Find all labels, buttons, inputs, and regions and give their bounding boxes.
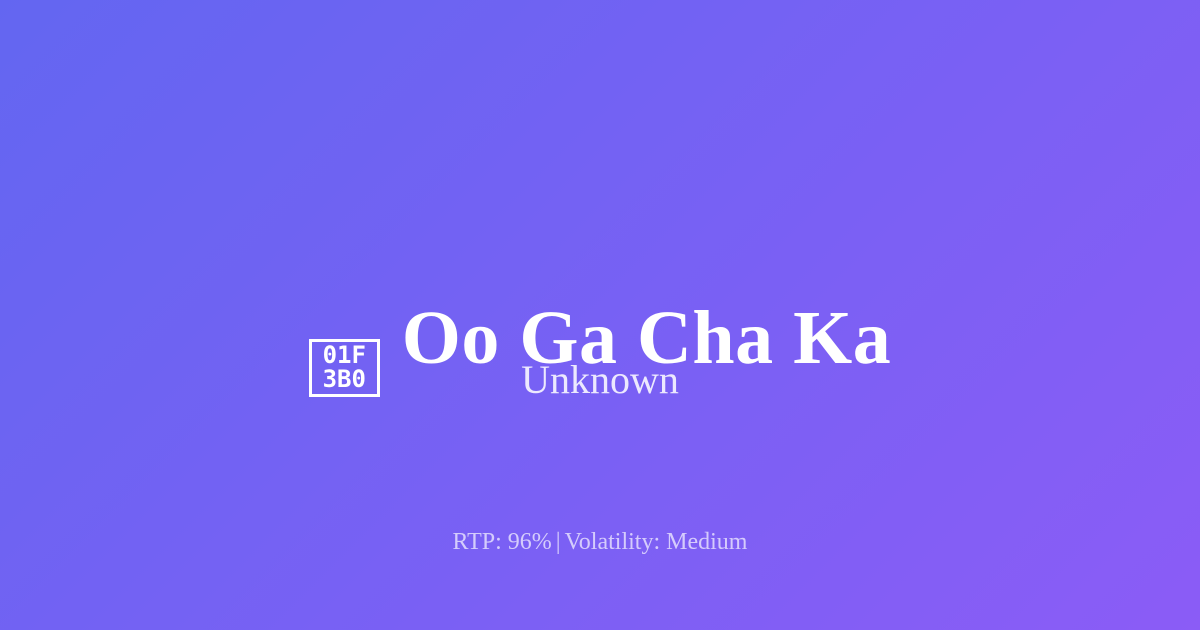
game-stats-line: RTP: 96%|Volatility: Medium <box>0 530 1200 554</box>
stats-separator: | <box>552 529 565 555</box>
title-row: 01F 3B0 Oo Ga Cha Ka <box>0 0 1200 320</box>
subtitle: Unknown <box>0 360 1200 400</box>
rtp-value: RTP: 96% <box>453 529 552 555</box>
game-promo-card: 01F 3B0 Oo Ga Cha Ka Unknown RTP: 96%|Vo… <box>0 0 1200 630</box>
volatility-value: Volatility: Medium <box>565 529 748 555</box>
